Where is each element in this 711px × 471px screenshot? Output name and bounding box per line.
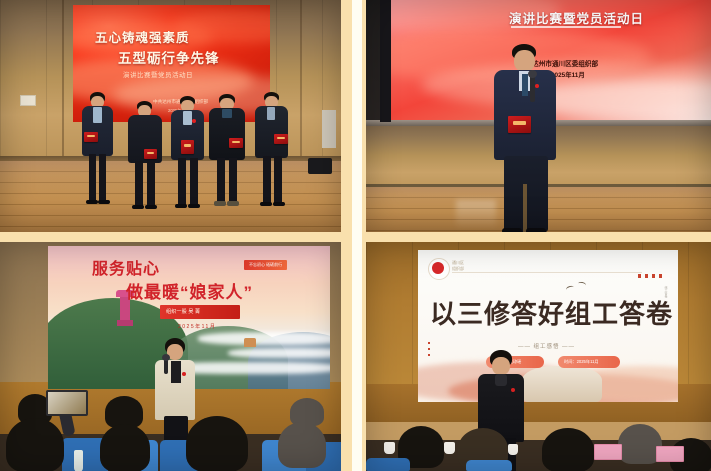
person-shoe — [145, 205, 157, 209]
certificate — [274, 134, 288, 144]
seat — [466, 460, 512, 471]
panel-border-vertical-left-bottom — [341, 242, 352, 471]
slide-cloud — [198, 332, 330, 345]
person-leg — [263, 156, 271, 204]
person-shoe — [273, 202, 285, 206]
person-leg — [229, 158, 237, 204]
wall-speaker — [322, 110, 336, 148]
equipment-case — [308, 158, 332, 174]
slide-book-graphic — [522, 366, 602, 402]
wall-seam — [62, 0, 64, 160]
party-badge — [182, 372, 186, 376]
panel-bottom-right-photo: 通川区 组织部 以三修答好组工答卷 —— 组工感悟 —— 汇报人：侯琼瑶 时间：… — [366, 242, 711, 471]
tea-cup — [444, 442, 455, 454]
screen-title: 演讲比赛暨党员活动日 — [509, 8, 644, 27]
panel-gap-cross — [352, 232, 362, 242]
person-leg — [274, 156, 282, 204]
party-badge — [511, 388, 515, 392]
audience-row-front — [0, 414, 341, 471]
person-leg — [217, 158, 225, 204]
panel-top-right[interactable]: 演讲比赛暨党员活动日 中共达州市通川区委组织部 2025年11月 — [366, 0, 711, 232]
slide-header-rule — [452, 272, 642, 273]
slide-logo-icon — [432, 262, 444, 274]
person-leg — [190, 158, 198, 206]
person-leg — [178, 158, 186, 206]
screen-date-line: 2025年11月 — [551, 70, 585, 79]
tea-cup — [508, 444, 518, 455]
slide-small-pavilion — [244, 338, 256, 347]
slide-vertical-text: 组工答卷 — [664, 286, 668, 346]
slide-cloud — [228, 348, 330, 358]
audience-head — [186, 416, 248, 471]
title-underline — [511, 26, 621, 28]
panel-bottom-right[interactable]: 通川区 组织部 以三修答好组工答卷 —— 组工感悟 —— 汇报人：侯琼瑶 时间：… — [366, 242, 711, 471]
panel-top-left-photo: 五心铸魂强素质 五型砺行争先锋 演讲比赛暨党员活动日 中共达州市通川区委组织部 … — [0, 0, 341, 232]
person-leg — [99, 154, 106, 202]
panel-top-left[interactable]: 五心铸魂强素质 五型砺行争先锋 演讲比赛暨党员活动日 中共达州市通川区委组织部 … — [0, 0, 341, 232]
presenter-face — [492, 357, 510, 375]
slide-pill-right-label: 时间：2025年11月 — [564, 359, 599, 365]
red-booklet — [508, 116, 531, 133]
hall-floor — [0, 160, 341, 232]
certificate — [84, 132, 98, 142]
tower-base — [117, 320, 133, 326]
audience-row — [366, 422, 711, 471]
panel-bottom-left-photo: 服务贴心 做最暖“娘家人” 不忘初心 砥砺前行 组织一股 吴 菁 2025年11… — [0, 242, 341, 471]
audience-head — [542, 428, 594, 471]
panel-border-vertical-left — [341, 0, 352, 232]
slide-dot-marks — [428, 342, 430, 360]
floor-reflection-speaker — [456, 200, 496, 230]
person-shirt — [267, 107, 275, 120]
person-shirt — [183, 111, 192, 125]
audience-head — [100, 424, 150, 471]
leg-gap — [523, 184, 527, 232]
screen-title-line2: 五型砺行争先锋 — [118, 47, 220, 67]
photo-collage: 五心铸魂强素质 五型砺行争先锋 演讲比赛暨党员活动日 中共达州市通川区委组织部 … — [0, 0, 711, 471]
name-plate — [594, 444, 622, 460]
panel-bottom-left[interactable]: 服务贴心 做最暖“娘家人” 不忘初心 砥砺前行 组织一股 吴 菁 2025年11… — [0, 242, 341, 471]
person-shoe — [175, 204, 187, 208]
slide-title-line2: 做最暖“娘家人” — [126, 278, 253, 303]
person-leg — [147, 161, 155, 207]
panel-border-horizontal-left — [0, 232, 352, 242]
speaker-face — [514, 50, 535, 72]
person-shoe — [132, 205, 144, 209]
party-badge — [535, 84, 539, 88]
slide-title-line1: 服务贴心 — [92, 255, 160, 279]
person-collar — [222, 109, 232, 118]
audience-head — [6, 418, 64, 471]
wall-notice-card — [20, 95, 36, 106]
water-bottle — [74, 450, 83, 471]
person-shoe — [188, 204, 200, 208]
slide-title: 以三修答好组工答卷 — [430, 294, 673, 331]
certificate — [144, 149, 157, 159]
microphone-head — [528, 70, 537, 78]
person-shoe — [86, 200, 98, 204]
screen-face: 通川区 组织部 以三修答好组工答卷 —— 组工感悟 —— 汇报人：侯琼瑶 时间：… — [418, 250, 678, 402]
certificate — [181, 140, 194, 154]
certificate — [229, 138, 243, 148]
panel-gap-vertical-top — [352, 0, 362, 232]
screen-title-line1: 五心铸魂强素质 — [95, 27, 190, 46]
panel-border-horizontal-right — [362, 232, 711, 242]
tea-cup — [384, 442, 395, 454]
panel-gap-vertical-bottom — [352, 242, 362, 471]
person-leg — [135, 161, 143, 207]
microphone-head — [162, 354, 170, 361]
panel-border-vertical-right-bottom — [362, 242, 366, 471]
slide-corner-marks — [638, 274, 664, 278]
party-badge — [192, 119, 196, 123]
phone-screen — [46, 390, 88, 416]
slide-logo-text: 通川区 组织部 — [452, 260, 464, 272]
presenter-scarf — [495, 374, 507, 386]
slide-date-line: 2025年11月 — [178, 323, 216, 330]
microphone — [530, 74, 535, 102]
panel-top-right-photo: 演讲比赛暨党员活动日 中共达州市通川区委组织部 2025年11月 — [366, 0, 711, 232]
slide-subtitle: —— 组工感悟 —— — [518, 342, 575, 350]
slide-badge: 不忘初心 砥砺前行 — [244, 260, 287, 270]
slide-presenter-label: 组织一股 吴 菁 — [166, 308, 200, 315]
screen-subtitle: 演讲比赛暨党员活动日 — [123, 69, 193, 79]
person-shoe — [98, 200, 110, 204]
person-shirt — [93, 107, 102, 123]
audience-head — [278, 422, 326, 468]
person-shoe — [214, 201, 226, 206]
person-shoe — [227, 201, 239, 206]
led-screen: 通川区 组织部 以三修答好组工答卷 —— 组工感悟 —— 汇报人：侯琼瑶 时间：… — [418, 250, 678, 402]
person-leg — [89, 154, 96, 202]
person-shoe — [260, 202, 272, 206]
screen-left-bezel — [380, 0, 391, 122]
floor-reflection — [0, 160, 341, 232]
speaker-tie — [522, 74, 528, 96]
name-plate — [656, 446, 684, 462]
panel-border-vertical-right — [362, 0, 366, 232]
seat — [366, 458, 410, 471]
presenter-inner-top — [171, 361, 181, 383]
wall-seam — [300, 0, 302, 160]
